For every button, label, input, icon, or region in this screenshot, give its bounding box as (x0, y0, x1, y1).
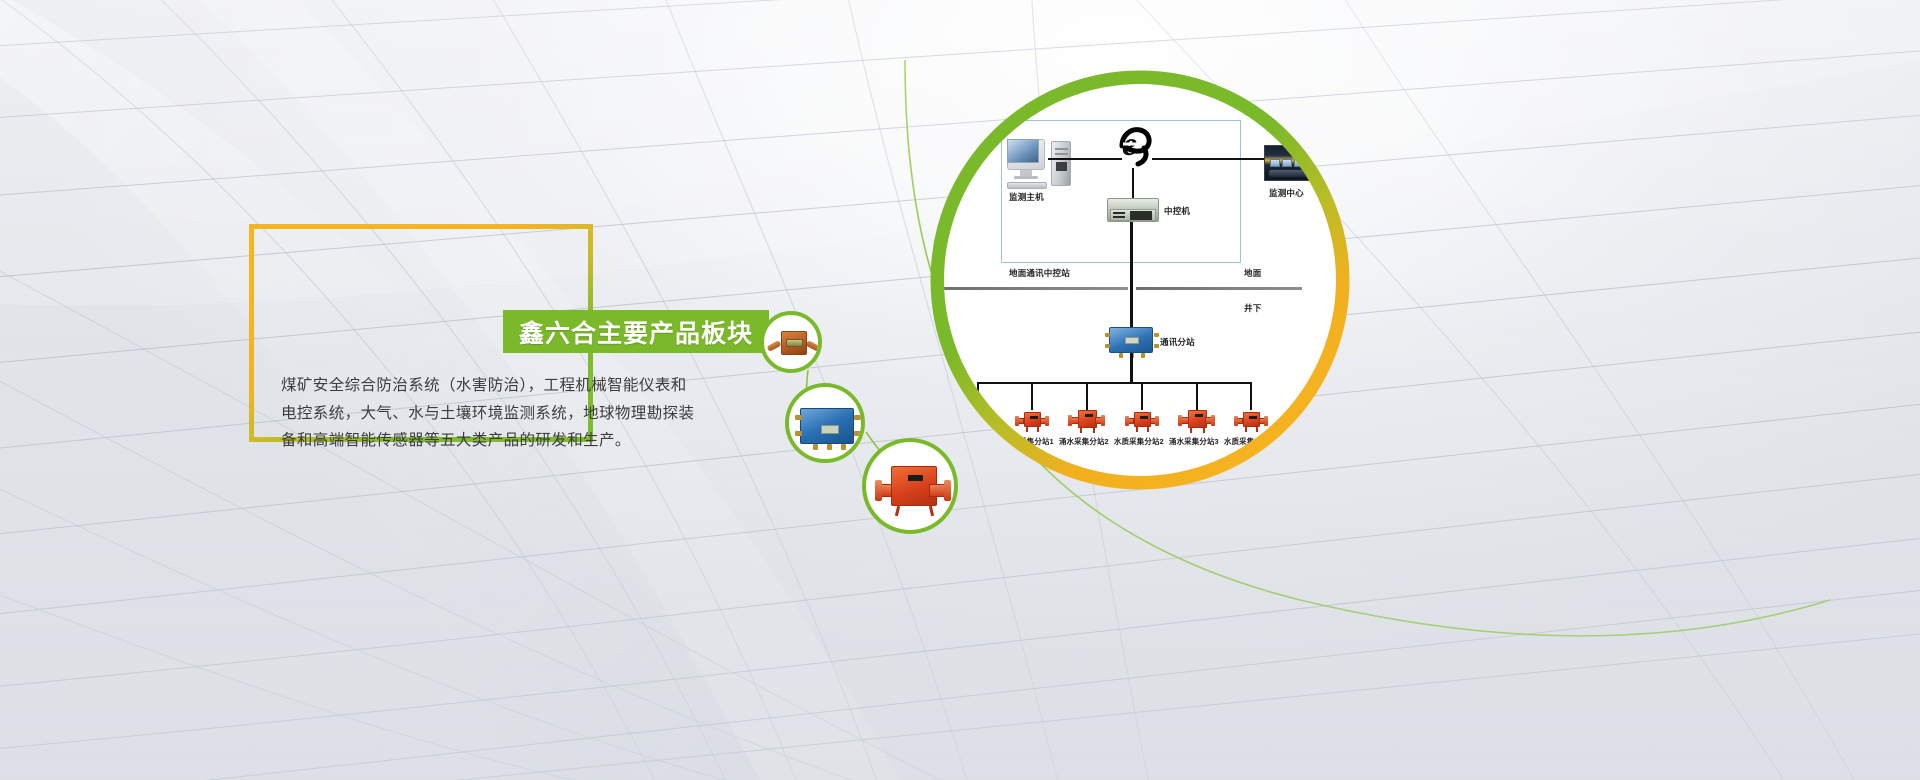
feature-circle-brown-device[interactable] (760, 311, 822, 373)
drop-wire-3 (1086, 382, 1088, 410)
station-device-2 (1016, 410, 1050, 436)
label-monitoring-host: 监测主机 (1009, 191, 1044, 203)
monitoring-center-icon (1264, 145, 1318, 181)
label-comm-substation: 通讯分站 (1160, 336, 1195, 348)
wire-internet-to-server (1132, 168, 1134, 198)
station-device-6 (1235, 410, 1269, 436)
feature-circle-red-device[interactable] (862, 438, 958, 534)
blue-junction-box-icon (789, 387, 861, 459)
label-control-machine: 中控机 (1164, 205, 1190, 217)
station-device-3 (1070, 408, 1104, 434)
label-underground: 井下 (1244, 302, 1261, 314)
diagram-canvas: 监测主机 e 监测中心 (944, 84, 1336, 476)
label-station-3: 涌水采集分站2 (1059, 436, 1109, 447)
label-surface-station: 地面通讯中控站 (1009, 267, 1070, 279)
info-panel-text: 煤矿安全综合防治系统（水害防治），工程机械智能仪表和 电控系统，大气、水与土壤环… (281, 332, 711, 461)
info-line-2: 电控系统，大气、水与土壤环境监测系统，地球物理勘探装 (281, 406, 711, 422)
label-station-4: 水质采集分站2 (1114, 436, 1164, 447)
label-station-6: 水质采集分站3 (1224, 436, 1274, 447)
info-line-3: 备和高端智能传感器等五大类产品的研发和生产。 (281, 433, 711, 449)
label-station-2: 水质采集分站1 (1004, 436, 1054, 447)
banner-stage: 鑫六合主要产品板块 煤矿安全综合防治系统（水害防治），工程机械智能仪表和 电控系… (0, 0, 1920, 780)
station-device-4 (1126, 410, 1160, 436)
bus-rail (977, 382, 1251, 384)
drop-wire-2 (1031, 382, 1033, 410)
label-monitoring-center: 监测中心 (1269, 187, 1304, 199)
red-flow-meter-icon (866, 442, 954, 530)
internet-e-swoosh (1114, 124, 1158, 168)
label-surface: 地面 (1244, 267, 1261, 279)
info-line-1: 煤矿安全综合防治系统（水害防治），工程机械智能仪表和 (281, 378, 711, 394)
wire-server-to-substation (1130, 222, 1133, 327)
feature-circle-blue-device[interactable] (785, 383, 865, 463)
label-station-5: 涌水采集分站3 (1169, 436, 1219, 447)
brown-sensor-device-icon (764, 315, 818, 369)
station-device-5 (1180, 408, 1214, 434)
comm-substation-icon (1109, 327, 1153, 353)
wire-host-to-internet (1048, 158, 1122, 160)
control-machine-icon (1107, 198, 1159, 222)
ground-divider-left (944, 287, 1128, 290)
wire-substation-to-bus (1130, 353, 1133, 383)
drop-wire-5 (1196, 382, 1198, 410)
drop-wire-6 (1250, 382, 1252, 410)
wire-internet-to-center (1152, 158, 1264, 160)
drop-wire-4 (1141, 382, 1143, 410)
ground-divider-right (1136, 287, 1302, 290)
